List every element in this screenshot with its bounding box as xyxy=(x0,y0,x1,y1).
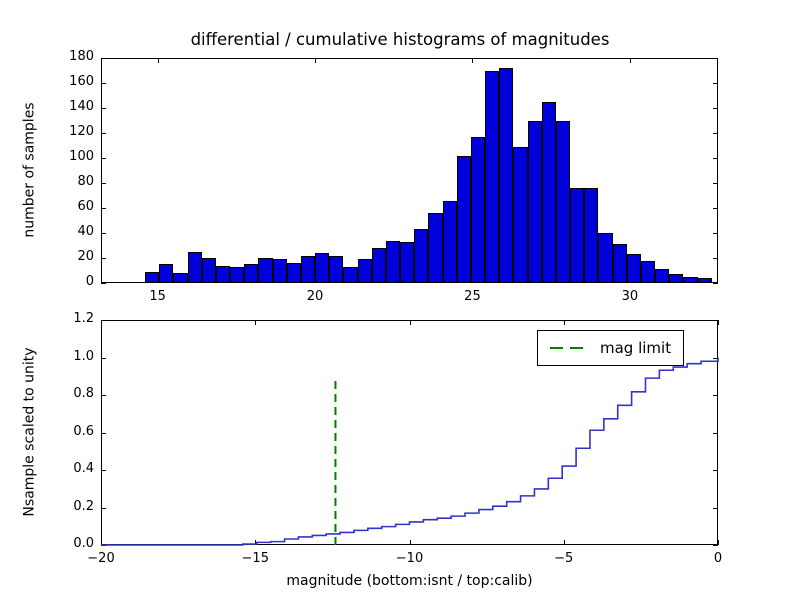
figure-canvas: differential / cumulative histograms of … xyxy=(0,0,800,600)
cumulative-curve xyxy=(0,0,800,600)
cumulative-step-line xyxy=(101,358,718,546)
legend[interactable]: mag limit xyxy=(537,330,684,366)
legend-label-mag-limit: mag limit xyxy=(600,339,683,357)
mag-limit-dash-icon xyxy=(548,341,594,355)
